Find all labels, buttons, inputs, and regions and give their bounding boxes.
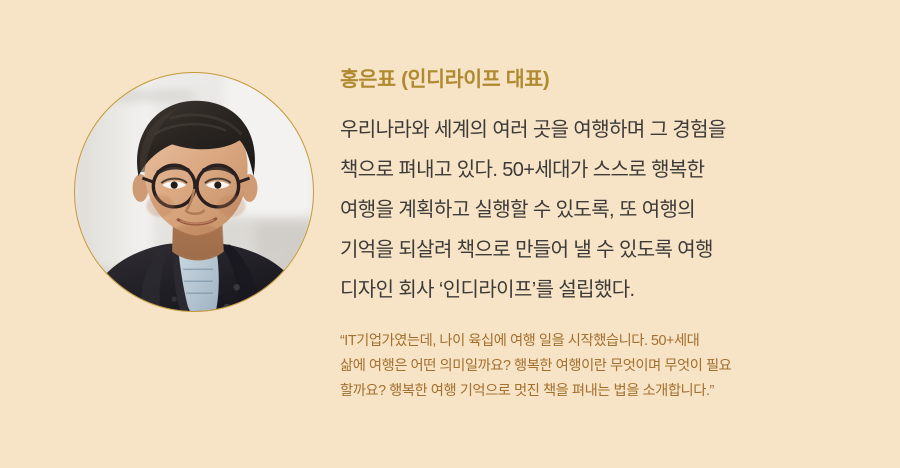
bio-line: 우리나라와 세계의 여러 곳을 여행하며 그 경험을 [340,110,840,150]
bio-paragraph: 우리나라와 세계의 여러 곳을 여행하며 그 경험을 책으로 펴내고 있다. 5… [340,110,840,310]
avatar: 홍은표 프로필 사진 [74,72,314,312]
bio-line: 디자인 회사 ‘인디라이프’를 설립했다. [340,270,840,310]
bio-line: 여행을 계획하고 실행할 수 있도록, 또 여행의 [340,190,840,230]
avatar-image-clip: 홍은표 프로필 사진 [75,73,313,311]
quote-line: 할까요? 행복한 여행 기억으로 멋진 책을 펴내는 법을 소개합니다.” [340,379,840,404]
bio-line: 책으로 펴내고 있다. 50+세대가 스스로 행복한 [340,150,840,190]
bio-line: 기억을 되살려 책으로 만들어 낼 수 있도록 여행 [340,230,840,270]
profile-text-column: 홍은표 (인디라이프 대표) 우리나라와 세계의 여러 곳을 여행하며 그 경험… [340,0,860,468]
person-portrait-icon: 홍은표 프로필 사진 [75,73,313,311]
speaker-profile-card: 홍은표 프로필 사진 [0,0,900,468]
quote-line: 삶에 여행은 어떤 의미일까요? 행복한 여행이란 무엇이며 무엇이 필요 [340,354,840,379]
pull-quote: “IT기업가였는데, 나이 육십에 여행 일을 시작했습니다. 50+세대 삶에… [340,329,840,404]
quote-line: “IT기업가였는데, 나이 육십에 여행 일을 시작했습니다. 50+세대 [340,329,840,354]
page-title: 홍은표 (인디라이프 대표) [340,62,549,92]
